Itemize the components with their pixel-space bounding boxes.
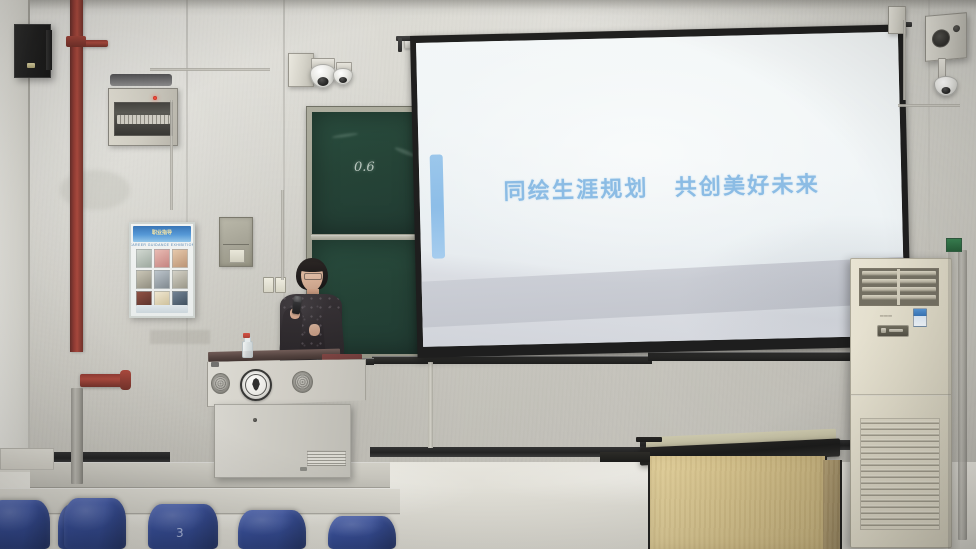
desk-side-panel <box>823 460 842 549</box>
podium-label-tag <box>211 362 219 367</box>
chalk-smudge <box>332 132 358 139</box>
speaker-badge <box>27 63 35 68</box>
conduit-horizontal <box>150 68 270 71</box>
chalk-ledge <box>372 356 652 364</box>
cable-bundle <box>110 74 172 86</box>
seat <box>64 498 126 549</box>
panel-window <box>114 102 173 136</box>
poster-cell <box>172 270 188 289</box>
seat-number: 3 <box>176 526 184 540</box>
wall-access-panel <box>219 217 253 267</box>
presenter-hand-free <box>309 324 320 336</box>
water-bottle <box>242 341 253 358</box>
poster-footer <box>136 305 188 313</box>
slide-accent-bar <box>430 154 445 258</box>
seat <box>0 500 50 549</box>
chalk-writing: 0.6 <box>354 160 375 175</box>
podium-vent <box>307 450 346 466</box>
poster-cell <box>154 270 170 289</box>
lecture-hall-photo: 0.6 同绘生涯规划共创美好未来 <box>0 0 976 549</box>
desk-rail <box>636 437 662 442</box>
conduit-horizontal <box>898 104 960 107</box>
conduit <box>170 100 173 210</box>
ac-brand-logo: ━━━ <box>880 313 892 320</box>
standpipe-flange <box>66 36 86 47</box>
seat <box>328 516 396 549</box>
podium-speaker-right <box>292 371 313 393</box>
presenter-fringe <box>299 262 326 272</box>
poster-subheader-text: CAREER GUIDANCE EXHIBITION <box>129 243 194 247</box>
wall-speaker-right <box>925 12 967 62</box>
poster-cell <box>154 249 170 268</box>
breaker-row <box>117 115 170 124</box>
chalk-ledge <box>648 352 858 361</box>
wall-pipe <box>958 250 967 540</box>
seat: 3 <box>148 504 218 549</box>
podium-small-tag <box>300 467 307 471</box>
water-bottle-cap <box>243 333 250 338</box>
desk-wood-grain <box>650 456 825 549</box>
ac-top-grille <box>859 268 939 306</box>
poster-cell <box>136 249 152 268</box>
poster-cell <box>136 270 152 289</box>
fire-standpipe-vertical <box>70 0 83 352</box>
ac-panel-seam <box>851 394 951 396</box>
ac-display-panel <box>877 325 909 337</box>
slide-headline-part-2: 共创美好未来 <box>674 173 820 201</box>
standpipe-valve-cap <box>120 370 131 390</box>
slide-headline-gap <box>649 195 675 196</box>
chalkboard-upper-panel: 0.6 <box>312 112 420 234</box>
ceiling-shadow <box>0 0 976 16</box>
podium-emblem <box>240 369 272 401</box>
podium-head <box>207 359 366 407</box>
stage-side-block <box>0 448 54 470</box>
presenter-glasses <box>304 273 322 280</box>
screen-bracket-left-arm <box>398 38 402 52</box>
wall-speaker-left-side <box>46 30 52 70</box>
poster-image-grid <box>136 249 188 310</box>
electrical-distribution-panel <box>108 88 178 146</box>
ac-bottom-grille <box>860 418 940 530</box>
podium-body <box>214 404 351 478</box>
access-panel-socket <box>229 249 245 263</box>
wall-scuff <box>150 330 210 344</box>
poster-header: 职业指导 <box>133 226 191 242</box>
podium-speaker-left <box>211 373 230 394</box>
poster-header-text: 职业指导 <box>152 229 172 236</box>
desk-front-panel <box>648 456 827 549</box>
wall-poster: 职业指导 CAREER GUIDANCE EXHIBITION <box>129 222 195 318</box>
screen-surface: 同绘生涯规划共创美好未来 <box>416 32 905 347</box>
power-led-red <box>153 96 157 100</box>
stage-dark-trim <box>600 452 650 462</box>
cabinet-air-conditioner: ━━━ <box>850 258 952 548</box>
desk-wood-grain <box>823 460 840 549</box>
seat <box>238 510 306 549</box>
wall-seam <box>186 0 188 380</box>
ledge-support-post <box>428 362 433 448</box>
podium-lock <box>253 418 257 422</box>
wall-socket <box>263 277 274 293</box>
poster-cell <box>172 249 188 268</box>
conduit <box>903 20 906 100</box>
slide-headline-part-1: 同绘生涯规划 <box>503 177 649 205</box>
standpipe-drop-pipe <box>71 388 83 484</box>
ac-energy-label <box>913 308 927 327</box>
wall-green-marker <box>946 238 962 252</box>
